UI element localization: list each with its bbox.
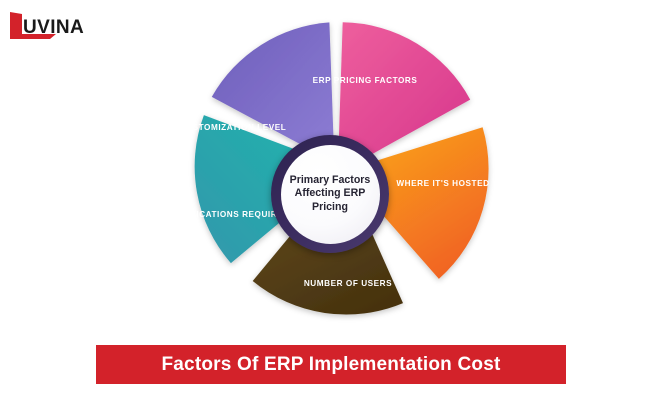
luvina-logo[interactable]: UVINA UVINA: [8, 8, 118, 42]
title-banner: Factors Of ERP Implementation Cost: [96, 345, 566, 384]
chart-label-number-of-users: NUMBER OF USERS: [304, 279, 392, 288]
chart-label-erp-pricing-factors: ERP PRICING FACTORS: [313, 76, 418, 85]
chart-label-applications-required: APPLICATIONS REQUIRED: [172, 210, 289, 219]
chart-center-hub: Primary Factors Affecting ERP Pricing: [271, 135, 389, 253]
logo-wordmark: UVINA: [23, 17, 84, 38]
banner-title: Factors Of ERP Implementation Cost: [161, 354, 500, 376]
chart-label-customization-level: CUSTOMIZATION LEVEL: [180, 123, 287, 132]
chart-center-title: Primary Factors Affecting ERP Pricing: [286, 174, 375, 215]
chart-center-hub-inner: Primary Factors Affecting ERP Pricing: [281, 145, 380, 244]
chart-label-where-its-hosted: WHERE IT'S HOSTED: [396, 179, 489, 188]
